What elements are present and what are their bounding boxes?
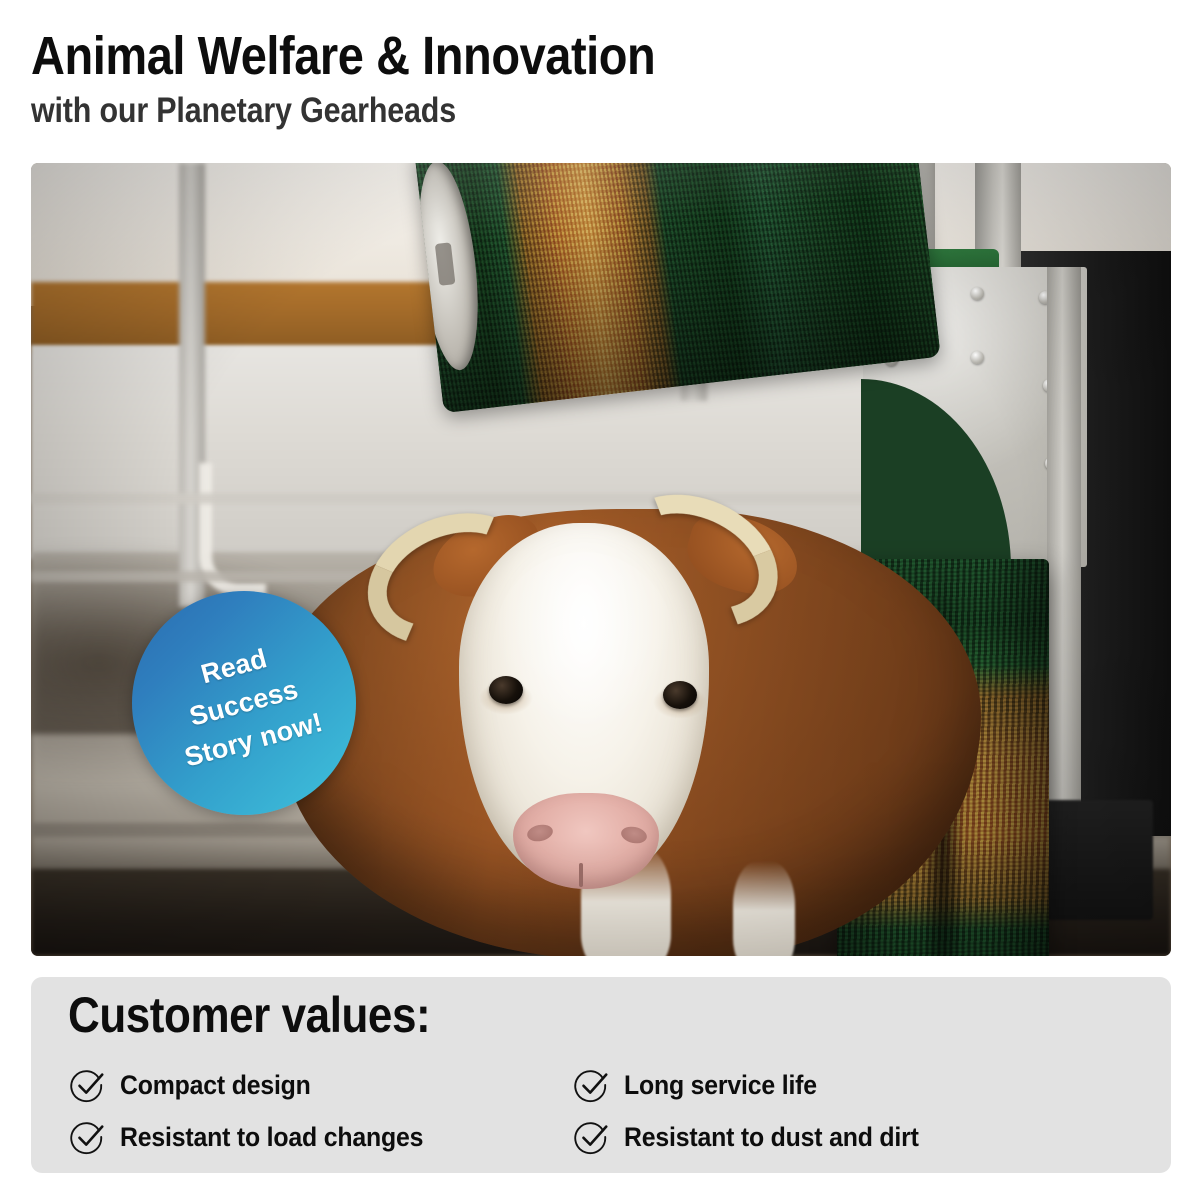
cow-leg — [733, 861, 795, 956]
hero-image: Read Success Story now! — [31, 163, 1171, 956]
customer-values-list: Compact design Long service life Resista… — [68, 1061, 1134, 1161]
check-circle-icon — [572, 1117, 612, 1157]
check-circle-icon — [68, 1065, 108, 1105]
cow-eye — [489, 676, 523, 704]
list-item: Long service life — [572, 1061, 1134, 1109]
list-item: Compact design — [68, 1061, 572, 1109]
cow — [281, 463, 1041, 956]
cow-mouth — [579, 863, 583, 887]
rivet — [971, 351, 984, 364]
hero-image-scene — [31, 163, 1171, 956]
value-label: Compact design — [120, 1070, 311, 1101]
list-item: Resistant to dust and dirt — [572, 1113, 1134, 1161]
customer-values-panel: Customer values: Compact design Long ser… — [31, 977, 1171, 1173]
page-title: Animal Welfare & Innovation — [31, 26, 1023, 86]
check-circle-icon — [572, 1065, 612, 1105]
rivet — [971, 287, 984, 300]
page-subtitle: with our Planetary Gearheads — [31, 90, 1023, 132]
success-story-badge-text: Read Success Story now! — [161, 630, 327, 777]
check-circle-icon — [68, 1117, 108, 1157]
list-item: Resistant to load changes — [68, 1113, 572, 1161]
customer-values-title: Customer values: — [68, 985, 430, 1045]
value-label: Resistant to load changes — [120, 1122, 423, 1153]
value-label: Long service life — [624, 1070, 817, 1101]
value-label: Resistant to dust and dirt — [624, 1122, 919, 1153]
machine-vertical-post — [1047, 267, 1081, 806]
success-story-badge[interactable]: Read Success Story now! — [132, 591, 356, 815]
page-header: Animal Welfare & Innovation with our Pla… — [31, 26, 1171, 132]
cow-eye — [663, 681, 697, 709]
